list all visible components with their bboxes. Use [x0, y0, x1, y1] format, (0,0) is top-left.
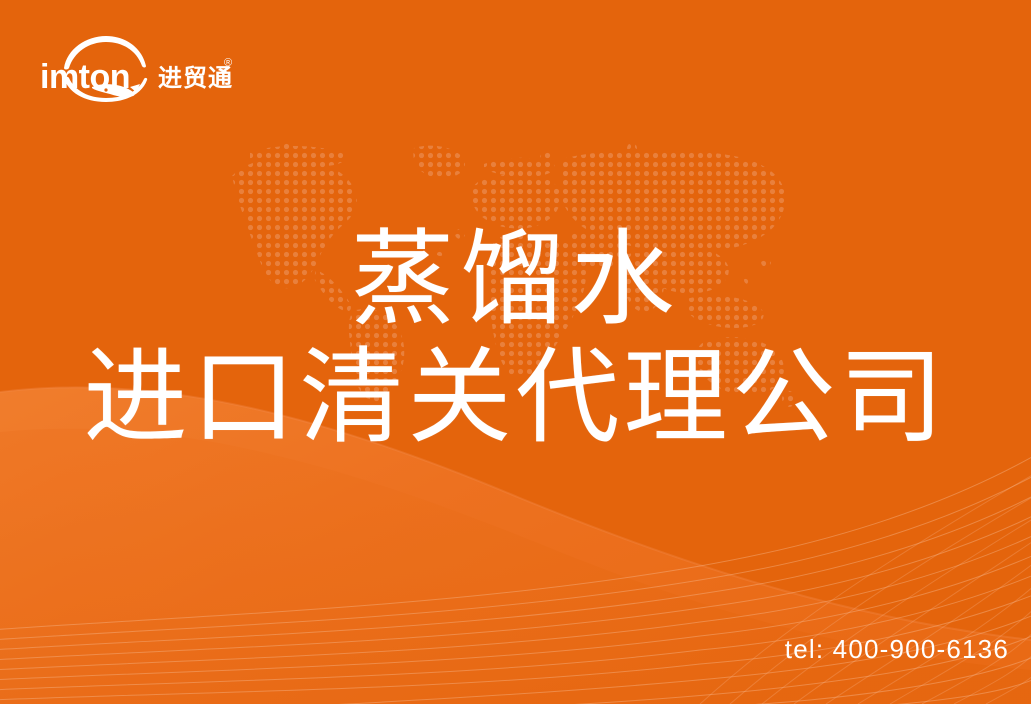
logo-svg: imton 进贸通 ® — [34, 32, 239, 106]
logo-chinese-name: 进贸通 — [158, 65, 233, 92]
contact-phone[interactable]: tel: 400-900-6136 — [785, 634, 1009, 665]
registered-trademark-icon: ® — [224, 57, 232, 69]
brand-logo[interactable]: imton 进贸通 ® — [34, 32, 239, 106]
headline-line-1: 蒸馏水 — [0, 228, 1031, 332]
headline-block: 蒸馏水 进口清关代理公司 — [0, 228, 1031, 450]
headline-line-2: 进口清关代理公司 — [0, 346, 1031, 450]
logo-wordmark: imton — [40, 58, 130, 96]
promotional-banner: imton 进贸通 ® 蒸馏水 进口清关代理公司 tel: 400-900-61… — [0, 0, 1031, 704]
